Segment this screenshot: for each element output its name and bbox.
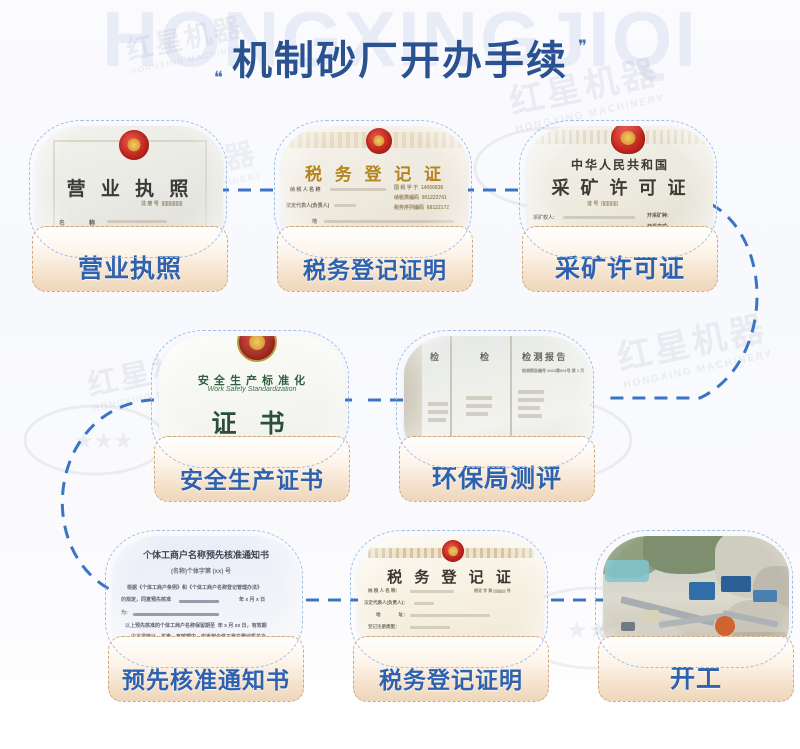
card-label: 采矿许可证 xyxy=(555,257,685,282)
card-label-plate[interactable]: 环保局测评 xyxy=(399,436,595,502)
flow-card-mining-permit[interactable]: 中华人民共和国 采 矿 许 可 证 证 号 |||||||||||| 采矿权人:… xyxy=(520,126,720,292)
flow-card-safety-production-certificate[interactable]: 安 全 生 产 标 准 化 Work Safety Standardizatio… xyxy=(152,336,352,502)
card-label: 环保局测评 xyxy=(432,467,562,492)
card-label-plate[interactable]: 安全生产证书 xyxy=(154,436,350,502)
card-label: 税务登记证明 xyxy=(303,259,447,282)
flow-card-environmental-assessment[interactable]: 检 检 检 测 报 告 检测报告编号 2023第001号 第 1 页 环保局测评 xyxy=(397,336,597,502)
card-label: 安全生产证书 xyxy=(180,469,324,492)
flow-card-pre-approval-notice[interactable]: 个体工商户名称预先核准通知书 (名称)个体字第 (xx) 号 根据《个体工商户条… xyxy=(106,536,306,702)
flow-card-business-license[interactable]: 营 业 执 照 注 册 号 ||||||||||||||| 名 称 类 型 营业… xyxy=(30,126,230,292)
card-label: 开工 xyxy=(670,667,722,692)
flow-card-tax-registration-1[interactable]: 税 务 登 记 证 国 税 字 于 14056836 纳税类编码 9012237… xyxy=(275,126,475,292)
card-label-plate[interactable]: 开工 xyxy=(598,636,794,702)
card-label-plate[interactable]: 预先核准通知书 xyxy=(108,636,304,702)
card-label-plate[interactable]: 税务登记证明 xyxy=(353,636,549,702)
card-label: 预先核准通知书 xyxy=(122,669,290,692)
card-label-plate[interactable]: 营业执照 xyxy=(32,226,228,292)
card-label: 税务登记证明 xyxy=(379,669,523,692)
flow-card-start-production[interactable]: 开工 xyxy=(596,536,796,702)
card-label: 营业执照 xyxy=(78,257,182,282)
flow-card-tax-registration-2[interactable]: 税 务 登 记 证 税证 字 第 ||||||||||| 号 纳 税 人 名 称… xyxy=(351,536,551,702)
card-label-plate[interactable]: 税务登记证明 xyxy=(277,226,473,292)
page-title-bar: ❝ 机制砂厂开办手续 ❞ xyxy=(0,30,800,92)
quote-close-icon: ❞ xyxy=(578,30,586,55)
page-title: 机制砂厂开办手续 xyxy=(232,41,568,81)
quote-open-icon: ❝ xyxy=(214,69,222,92)
card-label-plate[interactable]: 采矿许可证 xyxy=(522,226,718,292)
